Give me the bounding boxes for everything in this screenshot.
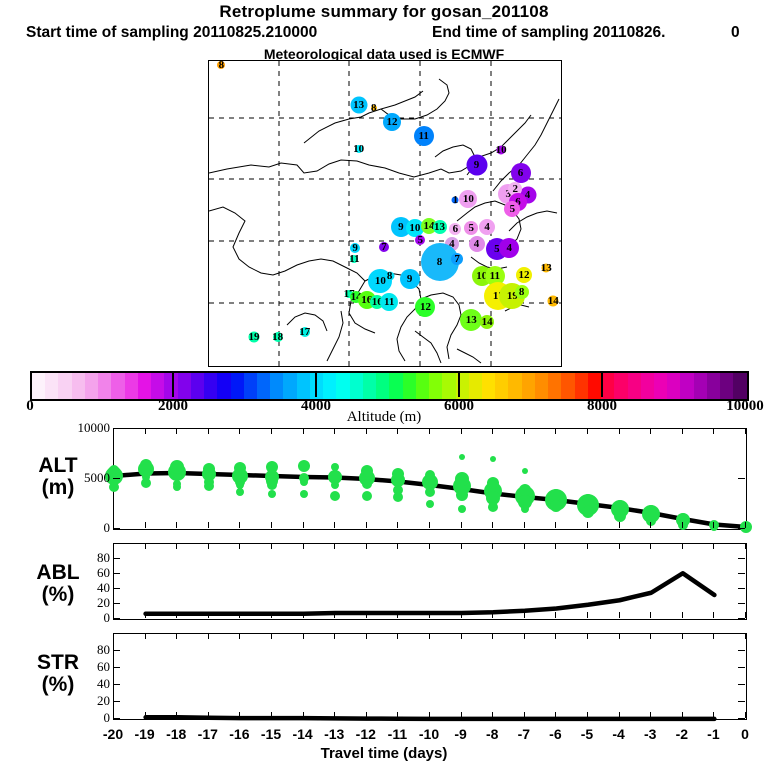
xtick-mark — [239, 612, 240, 618]
colorbar-cell-33 — [469, 373, 482, 399]
alt-scatter-dot — [426, 500, 434, 508]
xtick-mark — [682, 612, 683, 618]
xtick-label--7: -7 — [518, 726, 530, 742]
alt-scatter-dot — [236, 488, 244, 496]
alt-scatter-dot — [582, 494, 594, 506]
xtick-mark — [650, 543, 651, 549]
xtick-mark — [429, 428, 430, 434]
alt-ytick-mark-right — [738, 428, 745, 429]
xtick-mark — [555, 428, 556, 434]
alt-scatter-dot — [266, 461, 278, 473]
xtick-label--12: -12 — [356, 726, 376, 742]
alt-scatter-dot — [109, 482, 119, 492]
xtick-mark — [587, 712, 588, 718]
abl-ytick-mark-right — [738, 603, 745, 604]
xtick-mark — [492, 543, 493, 549]
xtick-mark — [619, 712, 620, 718]
xtick-label--19: -19 — [134, 726, 154, 742]
xtick-mark — [271, 712, 272, 718]
alt-ytick-5000: 5000 — [52, 470, 110, 486]
xtick-mark — [271, 428, 272, 434]
alt-ytick-mark-right — [738, 478, 745, 479]
alt-scatter-dot — [458, 505, 466, 513]
xtick-mark — [334, 612, 335, 618]
colorbar-cell-35 — [495, 373, 508, 399]
map-cluster-label: 12 — [519, 269, 530, 281]
xtick-mark — [713, 543, 714, 549]
xtick-mark — [303, 712, 304, 718]
map-cluster-label: 11 — [384, 296, 394, 308]
xtick-mark — [619, 522, 620, 528]
abl-ytick-0: 0 — [52, 610, 110, 626]
map-cluster-label: 14 — [548, 295, 559, 307]
colorbar-cell-11 — [178, 373, 191, 399]
xtick-mark — [239, 633, 240, 639]
colorbar-cell-45 — [628, 373, 641, 399]
colorbar-cell-44 — [614, 373, 627, 399]
str-ytick-mark — [113, 667, 120, 668]
map-cluster-label: 5 — [468, 222, 474, 234]
colorbar-cell-47 — [654, 373, 667, 399]
xtick-label--13: -13 — [324, 726, 344, 742]
page-title: Retroplume summary for gosan_201108 — [0, 2, 768, 22]
map-cluster-label: 10 — [463, 193, 474, 205]
xtick-mark — [366, 633, 367, 639]
abl-series-line — [114, 544, 746, 619]
xtick-mark — [145, 633, 146, 639]
xtick-mark — [239, 522, 240, 528]
xtick-label--14: -14 — [292, 726, 312, 742]
xtick-label--10: -10 — [419, 726, 439, 742]
xtick-mark — [524, 522, 525, 528]
xtick-label--4: -4 — [612, 726, 624, 742]
colorbar-gradient — [32, 373, 747, 399]
colorbar-cell-46 — [641, 373, 654, 399]
xtick-mark — [713, 522, 714, 528]
alt-scatter-dot — [173, 483, 181, 491]
xtick-mark — [492, 612, 493, 618]
abl-ytick-20: 20 — [52, 595, 110, 611]
abl-ytick-mark — [113, 618, 120, 619]
xtick-mark — [619, 633, 620, 639]
str-plot-area[interactable] — [113, 633, 747, 720]
colorbar-cell-9 — [151, 373, 164, 399]
xtick-mark — [366, 543, 367, 549]
map-cluster-label: 13 — [541, 262, 552, 274]
str-ytick-mark — [113, 701, 120, 702]
xtick-label--11: -11 — [388, 726, 407, 742]
alt-scatter-dot — [459, 454, 465, 460]
xtick-mark — [492, 522, 493, 528]
colorbar-cell-8 — [138, 373, 151, 399]
colorbar-cell-3 — [72, 373, 85, 399]
xtick-mark — [587, 522, 588, 528]
xtick-mark — [429, 712, 430, 718]
str-ytick-mark-right — [738, 650, 745, 651]
xtick-label--5: -5 — [581, 726, 593, 742]
abl-ytick-mark — [113, 573, 120, 574]
xtick-mark — [113, 522, 114, 528]
str-ytick-60: 60 — [52, 659, 110, 675]
xtick-label--17: -17 — [198, 726, 218, 742]
map-cluster-label: 4 — [484, 221, 490, 233]
map-cluster-label: 6 — [518, 167, 524, 179]
xtick-mark — [524, 612, 525, 618]
xtick-mark — [303, 522, 304, 528]
colorbar-cell-14 — [217, 373, 230, 399]
colorbar-cell-22 — [323, 373, 336, 399]
xtick-mark — [555, 633, 556, 639]
abl-ytick-60: 60 — [52, 565, 110, 581]
alt-scatter-dot — [204, 481, 214, 491]
alt-scatter-dot — [521, 505, 529, 513]
alt-plot-area[interactable] — [113, 428, 747, 530]
xtick-mark — [176, 633, 177, 639]
colorbar-cell-4 — [85, 373, 98, 399]
xtick-mark — [145, 522, 146, 528]
xtick-label--2: -2 — [676, 726, 688, 742]
colorbar-cell-31 — [442, 373, 455, 399]
xtick-mark — [650, 612, 651, 618]
colorbar-cell-52 — [720, 373, 733, 399]
colorbar-cell-2 — [58, 373, 71, 399]
xtick-mark — [113, 543, 114, 549]
colorbar-cell-12 — [191, 373, 204, 399]
xtick-mark — [397, 522, 398, 528]
xtick-label--8: -8 — [486, 726, 498, 742]
map-cluster-label: 11 — [349, 253, 359, 265]
xtick-mark — [587, 543, 588, 549]
xtick-label--20: -20 — [103, 726, 123, 742]
colorbar-cell-18 — [270, 373, 283, 399]
str-ytick-40: 40 — [52, 676, 110, 692]
colorbar-cell-53 — [733, 373, 746, 399]
xtick-mark — [176, 522, 177, 528]
alt-scatter-dot — [646, 516, 656, 526]
xtick-mark — [682, 543, 683, 549]
xtick-mark — [713, 712, 714, 718]
xtick-mark — [176, 543, 177, 549]
alt-scatter-dot — [267, 480, 277, 490]
colorbar-cell-20 — [297, 373, 310, 399]
abl-ytick-mark-right — [738, 588, 745, 589]
xtick-mark — [271, 543, 272, 549]
alt-scatter-dot — [678, 520, 688, 530]
xtick-mark — [524, 543, 525, 549]
xtick-mark — [334, 543, 335, 549]
colorbar-cell-27 — [389, 373, 402, 399]
xtick-mark — [682, 633, 683, 639]
xtick-mark — [745, 522, 746, 528]
xtick-mark — [145, 612, 146, 618]
alt-scatter-dot — [362, 491, 372, 501]
xtick-mark — [587, 633, 588, 639]
xtick-mark — [461, 522, 462, 528]
alt-scatter-dot — [490, 456, 496, 462]
alt-ytick-0: 0 — [52, 520, 110, 536]
xtick-mark — [682, 712, 683, 718]
alt-scatter-dot — [234, 462, 246, 474]
xtick-mark — [397, 633, 398, 639]
map-cluster-label: 7 — [454, 253, 460, 265]
colorbar-cell-41 — [575, 373, 588, 399]
xtick-label--6: -6 — [549, 726, 561, 742]
xtick-mark — [303, 633, 304, 639]
xtick-mark — [713, 612, 714, 618]
alt-ytick-mark — [113, 528, 120, 529]
alt-scatter-dot — [646, 505, 656, 515]
str-ytick-mark-right — [738, 718, 745, 719]
map-cluster-label: 14 — [482, 316, 493, 328]
map-cluster-label: 13 — [353, 99, 364, 111]
xtick-mark — [113, 612, 114, 618]
xtick-mark — [239, 543, 240, 549]
colorbar-cell-15 — [231, 373, 244, 399]
map-cluster-label: 5 — [417, 234, 423, 246]
xtick-mark — [650, 633, 651, 639]
colorbar-cell-50 — [694, 373, 707, 399]
xtick-mark — [239, 712, 240, 718]
xtick-mark — [397, 612, 398, 618]
xtick-mark — [524, 428, 525, 434]
xtick-mark — [303, 612, 304, 618]
xtick-mark — [176, 612, 177, 618]
xtick-mark — [208, 428, 209, 434]
map-cluster-label: 12 — [387, 116, 398, 128]
xtick-mark — [745, 612, 746, 618]
xtick-mark — [555, 522, 556, 528]
sampling-end-value: 0 — [731, 24, 740, 42]
colorbar-cell-25 — [363, 373, 376, 399]
alt-scatter-dot — [488, 502, 498, 512]
alt-scatter-dot — [331, 463, 339, 471]
xtick-label--1: -1 — [707, 726, 719, 742]
map-cluster-label: 17 — [299, 326, 310, 338]
map-cluster-label: 9 — [398, 221, 404, 233]
str-ytick-20: 20 — [52, 693, 110, 709]
map-cluster-label: 10 — [409, 222, 420, 234]
abl-ytick-40: 40 — [52, 580, 110, 596]
alt-scatter-dot — [393, 492, 403, 502]
colorbar-cell-16 — [244, 373, 257, 399]
map-cluster-label: 10 — [353, 143, 364, 155]
xtick-label--9: -9 — [454, 726, 466, 742]
alt-scatter-dot — [522, 468, 528, 474]
colorbar-cell-28 — [403, 373, 416, 399]
str-ytick-mark-right — [738, 667, 745, 668]
sampling-end-label: End time of sampling 20110826. — [432, 24, 665, 42]
abl-plot-area[interactable] — [113, 543, 747, 620]
sampling-start-label: Start time of sampling 20110825.210000 — [26, 24, 317, 42]
xtick-mark — [334, 428, 335, 434]
xtick-mark — [397, 543, 398, 549]
xtick-mark — [271, 612, 272, 618]
xtick-mark — [145, 543, 146, 549]
map-cluster-label: 11 — [419, 130, 429, 142]
xtick-mark — [461, 543, 462, 549]
colorbar-cell-10 — [164, 373, 177, 399]
map-cluster-label: 4 — [474, 238, 480, 250]
xtick-mark — [745, 543, 746, 549]
abl-ytick-mark-right — [738, 558, 745, 559]
alt-scatter-dot — [582, 506, 594, 518]
map-cluster-label: 11 — [490, 270, 500, 282]
map-cluster-label: 13 — [434, 221, 445, 233]
colorbar-divider-6000 — [458, 371, 460, 397]
colorbar-cell-42 — [588, 373, 601, 399]
xtick-mark — [239, 428, 240, 434]
map-cluster-label: 5 — [510, 203, 516, 215]
alt-scatter-dot — [300, 478, 308, 486]
xtick-mark — [461, 612, 462, 618]
colorbar-cell-0 — [32, 373, 45, 399]
xtick-mark — [366, 712, 367, 718]
alt-ytick-10000: 10000 — [52, 420, 110, 436]
map-cluster-label: 9 — [407, 273, 413, 285]
alt-scatter-dot — [710, 523, 718, 531]
alt-scatter-dot — [487, 477, 499, 489]
xtick-mark — [429, 543, 430, 549]
map-cluster-label: 6 — [453, 223, 459, 235]
colorbar-cell-5 — [98, 373, 111, 399]
xtick-mark — [619, 543, 620, 549]
xtick-label--3: -3 — [644, 726, 656, 742]
abl-ytick-mark — [113, 588, 120, 589]
map-cluster-label: 9 — [352, 242, 358, 254]
map-cluster-label: 12 — [420, 301, 431, 313]
map-cluster-label: 8 — [437, 256, 443, 268]
retroplume-map[interactable]: 8138121110109643265110910141365454454971… — [208, 60, 562, 367]
alt-ytick-mark-right — [738, 528, 745, 529]
xtick-mark — [397, 712, 398, 718]
xtick-mark — [113, 633, 114, 639]
alt-scatter-dot — [361, 465, 373, 477]
alt-scatter-points — [114, 429, 746, 529]
colorbar-cell-19 — [283, 373, 296, 399]
alt-scatter-dot — [300, 490, 308, 498]
colorbar-cell-17 — [257, 373, 270, 399]
xtick-mark — [176, 712, 177, 718]
map-cluster-label: 8 — [219, 60, 225, 71]
xtick-mark — [429, 522, 430, 528]
xtick-mark — [271, 522, 272, 528]
xtick-mark — [429, 612, 430, 618]
abl-ytick-mark — [113, 603, 120, 604]
xtick-label--15: -15 — [261, 726, 281, 742]
str-ytick-80: 80 — [52, 642, 110, 658]
alt-scatter-dot — [362, 479, 372, 489]
alt-scatter-dot — [614, 510, 626, 522]
xtick-mark — [113, 428, 114, 434]
xtick-mark — [587, 428, 588, 434]
map-cluster-label: 4 — [507, 242, 513, 254]
alt-scatter-dot — [455, 472, 469, 486]
xtick-label--18: -18 — [166, 726, 186, 742]
alt-scatter-dot — [331, 481, 339, 489]
xtick-mark — [650, 428, 651, 434]
xtick-mark — [461, 633, 462, 639]
map-cluster-label: 8 — [519, 286, 525, 298]
xtick-mark — [492, 428, 493, 434]
xtick-mark — [208, 712, 209, 718]
xtick-mark — [524, 712, 525, 718]
altitude-colorbar — [30, 371, 749, 401]
xtick-label--16: -16 — [229, 726, 249, 742]
xtick-mark — [492, 633, 493, 639]
xtick-mark — [366, 428, 367, 434]
colorbar-cell-26 — [376, 373, 389, 399]
alt-scatter-dot — [330, 491, 340, 501]
abl-ytick-mark-right — [738, 618, 745, 619]
xtick-mark — [650, 712, 651, 718]
colorbar-cell-34 — [482, 373, 495, 399]
alt-scatter-dot — [142, 473, 150, 481]
colorbar-cell-7 — [125, 373, 138, 399]
str-ytick-0: 0 — [52, 710, 110, 726]
xtick-mark — [145, 712, 146, 718]
xtick-mark — [176, 428, 177, 434]
xtick-mark — [366, 612, 367, 618]
xtick-mark — [524, 633, 525, 639]
xtick-mark — [461, 712, 462, 718]
xtick-mark — [303, 428, 304, 434]
str-ytick-mark — [113, 718, 120, 719]
xtick-mark — [555, 712, 556, 718]
xtick-mark — [713, 633, 714, 639]
colorbar-cell-43 — [601, 373, 614, 399]
alt-scatter-dot — [110, 473, 118, 481]
colorbar-cell-1 — [45, 373, 58, 399]
xtick-mark — [619, 612, 620, 618]
colorbar-cell-36 — [508, 373, 521, 399]
map-cluster-label: 8 — [387, 270, 393, 282]
colorbar-cell-6 — [111, 373, 124, 399]
alt-scatter-dot — [550, 500, 562, 512]
colorbar-cell-40 — [561, 373, 574, 399]
str-ytick-mark — [113, 650, 120, 651]
alt-scatter-dot — [268, 490, 276, 498]
xtick-mark — [145, 428, 146, 434]
abl-ytick-mark — [113, 558, 120, 559]
xtick-mark — [555, 543, 556, 549]
xtick-mark — [303, 543, 304, 549]
colorbar-cell-29 — [416, 373, 429, 399]
colorbar-title: Altitude (m) — [0, 409, 768, 426]
map-cluster-label: 1 — [453, 194, 459, 206]
map-cluster-label: 18 — [272, 331, 283, 343]
xtick-mark — [745, 633, 746, 639]
xtick-mark — [429, 633, 430, 639]
xtick-mark — [682, 428, 683, 434]
xtick-mark — [113, 712, 114, 718]
xtick-mark — [271, 633, 272, 639]
xtick-mark — [713, 428, 714, 434]
map-cluster-label: 8 — [371, 102, 377, 114]
xtick-mark — [682, 522, 683, 528]
alt-scatter-dot — [172, 464, 182, 474]
xtick-mark — [397, 428, 398, 434]
colorbar-cell-38 — [535, 373, 548, 399]
xtick-mark — [619, 428, 620, 434]
str-ytick-mark-right — [738, 684, 745, 685]
xtick-mark — [208, 612, 209, 618]
xtick-mark — [334, 712, 335, 718]
alt-ytick-mark — [113, 428, 120, 429]
cluster-markers-layer: 8138121110109643265110910141365454454971… — [209, 61, 561, 366]
xtick-mark — [208, 633, 209, 639]
colorbar-cell-39 — [548, 373, 561, 399]
colorbar-cell-51 — [707, 373, 720, 399]
